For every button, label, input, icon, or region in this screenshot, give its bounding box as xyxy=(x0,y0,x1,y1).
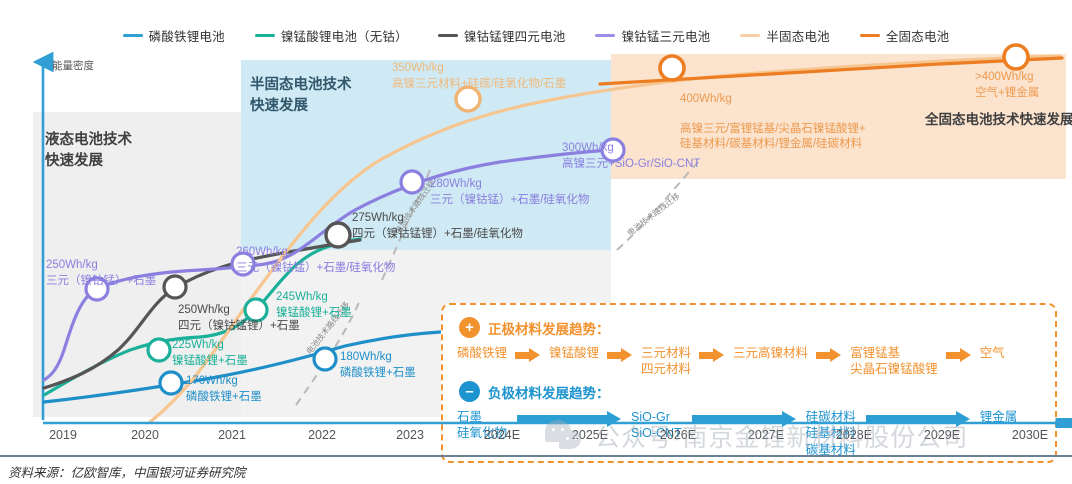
point-material: 三元（镍钴锰）+石墨/硅氧化物 xyxy=(236,261,395,277)
minus-circle-icon: – xyxy=(459,381,480,402)
x-tick-2027E: 2027E xyxy=(748,428,784,442)
legend-label-quaternary: 镍钴锰锂四元电池 xyxy=(464,26,566,45)
point-value: 170Wh/kg xyxy=(186,374,262,390)
point-value: 400Wh/kg xyxy=(680,92,866,107)
point-value: 180Wh/kg xyxy=(340,350,416,366)
y-axis-label: 能量密度 xyxy=(52,58,94,73)
x-tick-2030E: 2030E xyxy=(1012,428,1048,442)
legend-swatch-ncm xyxy=(595,34,615,37)
legend-label-lfp: 磷酸铁锂电池 xyxy=(149,26,225,45)
point-value: 225Wh/kg xyxy=(172,338,248,354)
x-tick-2019: 2019 xyxy=(49,428,77,442)
point-material: 四元（镍钴锰锂）+石墨/硅氧化物 xyxy=(352,227,523,243)
point-quaternary-275 xyxy=(326,223,350,247)
legend-swatch-allsolid xyxy=(860,34,880,37)
point-material: 镍锰酸锂+石墨 xyxy=(276,306,352,322)
arrow-right-icon xyxy=(946,348,972,362)
point-label-lfp-180: 180Wh/kg 磷酸铁锂+石墨 xyxy=(340,350,416,381)
legend-item-lfp: 磷酸铁锂电池 xyxy=(123,26,225,45)
point-label-lfp-170: 170Wh/kg 磷酸铁锂+石墨 xyxy=(186,374,262,405)
x-tick-2029E: 2029E xyxy=(924,428,960,442)
legend-item-semisolid: 半固态电池 xyxy=(740,26,830,45)
legend-label-ncm: 镍钴锰三元电池 xyxy=(621,26,710,45)
plot-area: 液态电池技术 快速发展 半固态电池技术 快速发展 全固态电池技术快速发展 xyxy=(0,50,1072,425)
x-tick-2020: 2020 xyxy=(131,428,159,442)
point-material: 磷酸铁锂+石墨 xyxy=(340,366,416,382)
point-lnmo-225 xyxy=(148,339,170,361)
point-material: 镍锰酸锂+石墨 xyxy=(172,354,248,370)
point-label-ncm-280: 280Wh/kg 三元（镍钴锰）+石墨/硅氧化物 xyxy=(430,177,589,208)
cathode-title: 正极材料发展趋势： xyxy=(488,318,610,338)
point-material: 磷酸铁锂+石墨 xyxy=(186,390,262,406)
legend-swatch-quaternary xyxy=(438,34,458,37)
cathode-item-5: 富锂锰基 尖晶石镍锰酸锂 xyxy=(850,345,938,378)
x-tick-2026E: 2026E xyxy=(660,428,696,442)
point-label-ncm-250: 250Wh/kg 三元（镍钴锰）+石墨 xyxy=(46,258,156,289)
cathode-chain: 磷酸铁锂 镍锰酸锂 三元材料 四元材料 三元高镍材料 富锂锰基 尖晶石镍锰酸锂 … xyxy=(457,345,1005,378)
x-tick-2028E: 2028E xyxy=(836,428,872,442)
legend-label-allsolid: 全固态电池 xyxy=(886,26,950,45)
point-label-semisolid-350: 350Wh/kg 高镍三元材料+硅碳/硅氧化物/石墨 xyxy=(392,61,566,92)
point-material: 三元（镍钴锰）+石墨 xyxy=(46,274,156,290)
cathode-item-6: 空气 xyxy=(980,345,1005,361)
point-material: 高镍三元材料+硅碳/硅氧化物/石墨 xyxy=(392,77,566,93)
x-tick-2021: 2021 xyxy=(218,428,246,442)
plus-circle-icon: + xyxy=(459,317,480,338)
x-tick-2025E: 2025E xyxy=(572,428,608,442)
legend-item-quaternary: 镍钴锰锂四元电池 xyxy=(438,26,566,45)
legend-item-ncm: 镍钴锰三元电池 xyxy=(595,26,710,45)
legend-swatch-lnmo xyxy=(255,34,275,37)
x-tick-2023: 2023 xyxy=(396,428,424,442)
anode-title: 负极材料发展趋势： xyxy=(488,382,610,402)
anode-header: – 负极材料发展趋势： xyxy=(459,381,610,402)
point-label-lnmo-245: 245Wh/kg 镍锰酸锂+石墨 xyxy=(276,290,352,321)
point-material: 空气+锂金属 xyxy=(975,86,1039,102)
point-value: 280Wh/kg xyxy=(430,177,589,193)
legend-swatch-semisolid xyxy=(740,34,760,37)
cathode-item-1: 磷酸铁锂 xyxy=(457,345,507,361)
cathode-item-4: 三元高镍材料 xyxy=(733,345,808,361)
legend-label-semisolid: 半固态电池 xyxy=(766,26,830,45)
chart-root: 磷酸铁锂电池 镍锰酸锂电池（无钴） 镍钴锰锂四元电池 镍钴锰三元电池 半固态电池… xyxy=(0,0,1072,484)
cathode-item-2: 镍锰酸锂 xyxy=(549,345,599,361)
x-tick-2022: 2022 xyxy=(308,428,336,442)
point-value: 350Wh/kg xyxy=(392,61,566,77)
point-material: 三元（镍钴锰）+石墨/硅氧化物 xyxy=(430,193,589,209)
cathode-header: + 正极材料发展趋势： xyxy=(459,317,610,338)
point-label-ncm-260: 260Wh/kg 三元（镍钴锰）+石墨/硅氧化物 xyxy=(236,245,395,276)
footer-divider xyxy=(0,455,1072,457)
point-value: 260Wh/kg xyxy=(236,245,395,261)
point-value: 275Wh/kg xyxy=(352,211,523,227)
point-allsolid-gt400 xyxy=(1004,45,1028,69)
chart-legend: 磷酸铁锂电池 镍锰酸锂电池（无钴） 镍钴锰锂四元电池 镍钴锰三元电池 半固态电池… xyxy=(0,24,1072,46)
point-value: 245Wh/kg xyxy=(276,290,352,306)
point-lfp-170 xyxy=(160,372,182,394)
point-quaternary-250 xyxy=(164,276,186,298)
point-label-quaternary-275: 275Wh/kg 四元（镍钴锰锂）+石墨/硅氧化物 xyxy=(352,211,523,242)
point-lfp-180 xyxy=(314,348,336,370)
x-tick-2024E: 2024E xyxy=(484,428,520,442)
source-note: 资料来源：亿欧智库，中国银河证券研究院 xyxy=(8,462,246,481)
legend-item-allsolid: 全固态电池 xyxy=(860,26,950,45)
cathode-item-3: 三元材料 四元材料 xyxy=(641,345,691,378)
legend-item-lnmo: 镍锰酸锂电池（无钴） xyxy=(255,26,408,45)
arrow-right-icon xyxy=(816,348,842,362)
point-value: 250Wh/kg xyxy=(46,258,156,274)
arrow-right-icon xyxy=(699,348,725,362)
arrow-right-icon xyxy=(607,348,633,362)
point-material: 高镍三元/富锂锰基/尖晶石镍锰酸锂+ 硅基材料/碳基材料/锂金属/硅碳材料 xyxy=(680,122,866,152)
x-axis xyxy=(0,418,1072,428)
legend-swatch-lfp xyxy=(123,34,143,37)
point-label-lnmo-225: 225Wh/kg 镍锰酸锂+石墨 xyxy=(172,338,248,369)
point-label-allsolid-400: 400Wh/kg 高镍三元/富锂锰基/尖晶石镍锰酸锂+ 硅基材料/碳基材料/锂金… xyxy=(680,77,866,167)
arrow-right-icon xyxy=(515,348,541,362)
point-value: >400Wh/kg xyxy=(975,70,1039,86)
point-label-allsolid-gt400: >400Wh/kg 空气+锂金属 xyxy=(975,70,1039,101)
legend-label-lnmo: 镍锰酸锂电池（无钴） xyxy=(281,26,408,45)
